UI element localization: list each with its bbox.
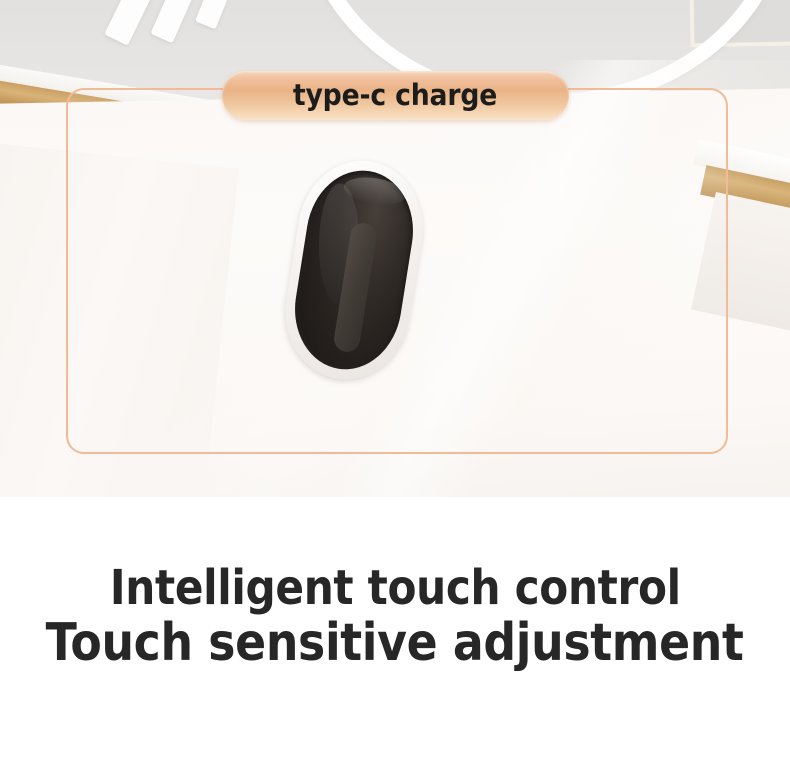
caption-block: Intelligent touch control Touch sensitiv… [0,497,790,783]
caption-line-2: Touch sensitive adjustment [46,616,744,671]
badge-label: type-c charge [293,81,497,110]
product-detail-page: type-c charge Intelligent touch control … [0,0,790,783]
caption-line-1: Intelligent touch control [110,563,681,614]
cabinet-face-left [0,133,239,497]
product-photo: type-c charge [0,0,790,497]
type-c-charge-badge: type-c charge [222,71,569,120]
